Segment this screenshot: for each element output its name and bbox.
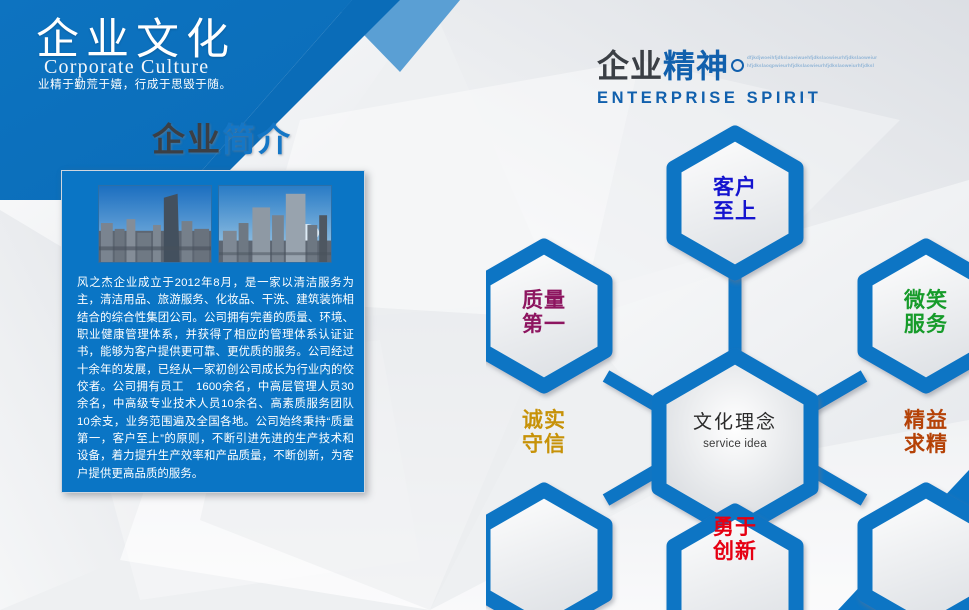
intro-heading-dark: 企业 (152, 121, 222, 158)
culture-hexagon-cluster: 客户 至上 质量 第一 微笑 服务 精益 求精 勇于 创新 诚实 守信 文化理念… (486, 118, 969, 610)
company-intro-card: 风之杰企业成立于2012年8月，是一家以清洁服务为主，清洁用品、旅游服务、化妆品… (61, 170, 365, 493)
hexagon-smile-service (865, 246, 969, 386)
city-skyline-photo-2 (218, 185, 332, 263)
poster-canvas: 企业文化 Corporate Culture 业精于勤荒于嬉，行成于思毁于随。 … (0, 0, 969, 610)
hexagon-graphics (486, 118, 969, 610)
spirit-title-en: ENTERPRISE SPIRIT (597, 89, 927, 108)
decorative-filler-text: dfjkdjwoeihfjdkslaoeiwuehfjdkslaowieurhf… (747, 54, 879, 70)
hexagon-honesty-trust (486, 490, 605, 610)
hexagon-customer-first (674, 133, 796, 273)
photo-strip (98, 185, 332, 263)
city-skyline-photo-1 (98, 185, 212, 263)
spirit-title-dark: 企业 (597, 48, 663, 84)
enterprise-spirit-heading: 企业精神 dfjkdjwoeihfjdkslaoeiwuehfjdkslaowi… (597, 50, 927, 108)
intro-heading-blue: 简介 (222, 121, 292, 158)
hexagon-quality-first (486, 246, 605, 386)
spirit-dot-icon (731, 59, 744, 72)
company-intro-text: 风之杰企业成立于2012年8月，是一家以清洁服务为主，清洁用品、旅游服务、化妆品… (77, 275, 354, 483)
banner-slogan: 业精于勤荒于嬉，行成于思毁于随。 (38, 76, 418, 92)
spirit-title-blue: 精神 (663, 48, 729, 84)
hexagon-brave-innovate (674, 511, 796, 610)
spirit-title-cn: 企业精神 dfjkdjwoeihfjdkslaoeiwuehfjdkslaowi… (597, 50, 927, 82)
hexagon-excellence (865, 490, 969, 610)
intro-heading: 企业简介 (152, 113, 292, 161)
